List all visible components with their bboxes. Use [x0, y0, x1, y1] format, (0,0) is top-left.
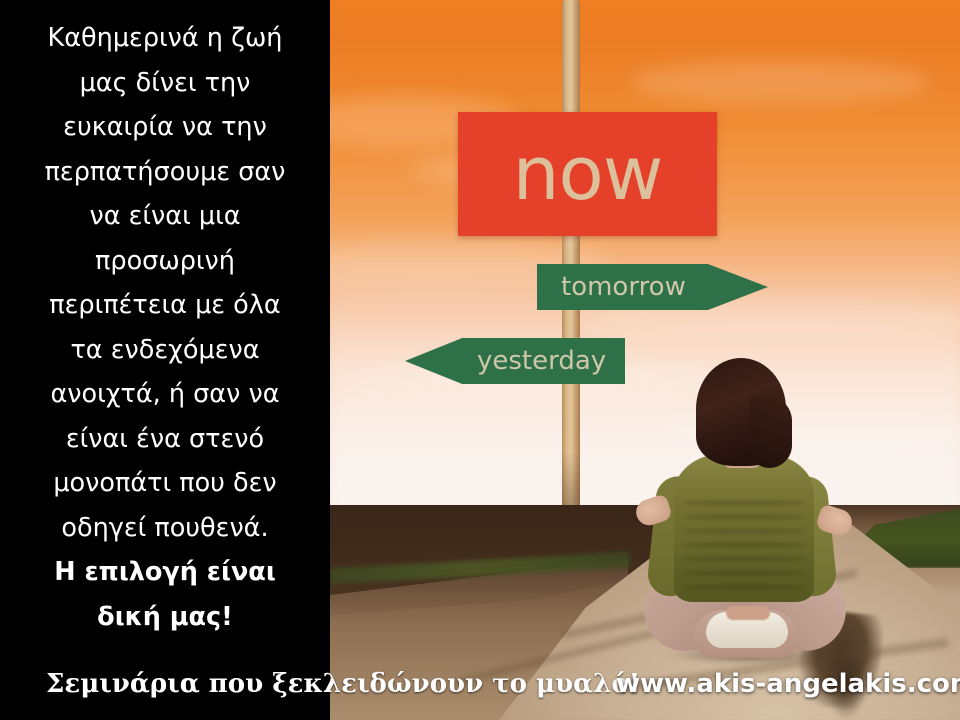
quote-line: περιπέτεια με όλα: [8, 283, 322, 328]
slide-canvas: now tomorrow yesterday: [0, 0, 960, 720]
sign-tomorrow-label: tomorrow: [561, 274, 686, 300]
quote-line-emphasis: Η επιλογή είναι: [8, 550, 322, 595]
quote-line-emphasis: δική μας!: [8, 595, 322, 640]
quote-line: ευκαιρία να την: [8, 105, 322, 150]
quote-line: τα ενδεχόμενα: [8, 328, 322, 373]
quote-line: περπατήσουμε σαν: [8, 150, 322, 195]
sign-now-label: now: [458, 137, 717, 211]
quote-line: είναι ένα στενό: [8, 417, 322, 462]
cloud-streak: [630, 60, 930, 104]
quote-line: μονοπάτι που δεν: [8, 461, 322, 506]
signpost-post: [562, 0, 580, 512]
quote-text: Καθημερινά η ζωή μας δίνει την ευκαιρία …: [8, 16, 322, 639]
photo-image: now tomorrow yesterday: [330, 0, 960, 720]
quote-line: οδηγεί πουθενά.: [8, 506, 322, 551]
caption-bar: Σεμινάρια που ξεκλειδώνουν το μυαλό! www…: [0, 648, 960, 720]
quote-line: ανοιχτά, ή σαν να: [8, 372, 322, 417]
woman-hair-strand: [750, 396, 792, 468]
woman-lower-back: [726, 606, 770, 620]
seminar-tagline: Σεμινάρια που ξεκλειδώνουν το μυαλό!: [46, 668, 640, 700]
meditating-woman: [630, 358, 860, 658]
woman-torso: [674, 454, 814, 602]
quote-line: Καθημερινά η ζωή: [8, 16, 322, 61]
website-url[interactable]: www.akis-angelakis.com: [616, 668, 960, 700]
quote-line: μας δίνει την: [8, 61, 322, 106]
quote-line: προσωρινή: [8, 239, 322, 284]
quote-line: να είναι μια: [8, 194, 322, 239]
quote-panel: Καθημερινά η ζωή μας δίνει την ευκαιρία …: [0, 0, 330, 720]
sign-yesterday-label: yesterday: [477, 348, 606, 374]
sign-now: now: [458, 112, 717, 236]
